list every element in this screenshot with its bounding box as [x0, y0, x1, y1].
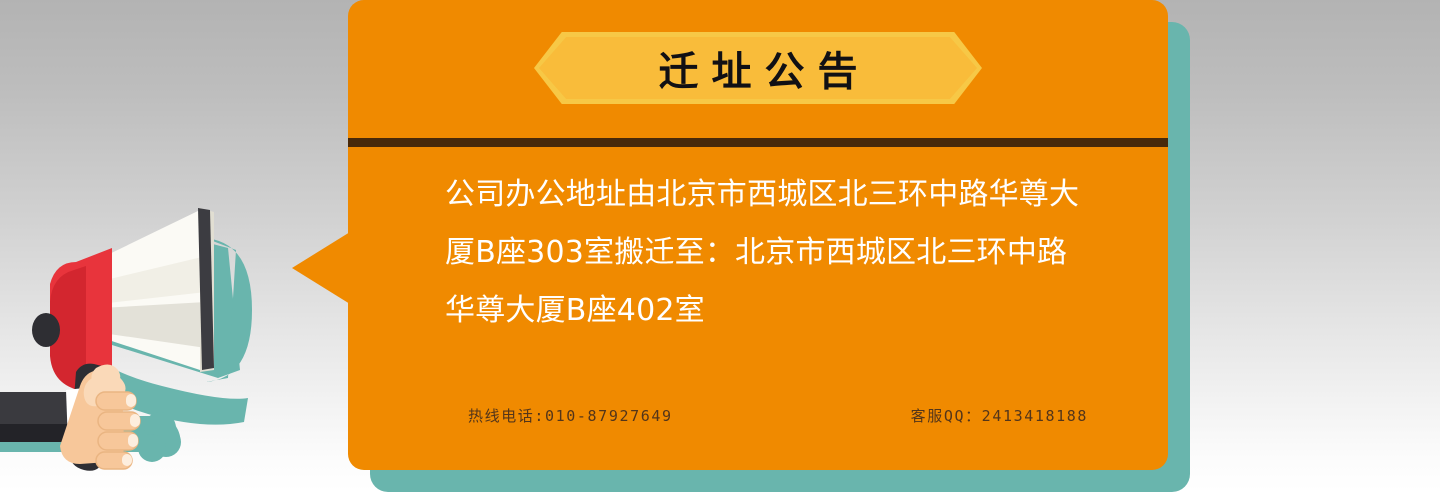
- divider: [348, 138, 1168, 147]
- hotline-text: 热线电话:010-87927649: [468, 405, 673, 426]
- qq-text: 客服QQ：2413418188: [911, 405, 1088, 426]
- megaphone-knob-icon: [32, 313, 60, 347]
- megaphone-illustration: [0, 180, 330, 492]
- announcement-banner-image: 迁址公告 公司办公地址由北京市西城区北三环中路华尊大厦B座303室搬迁至：北京市…: [0, 0, 1440, 492]
- announcement-body: 公司办公地址由北京市西城区北三环中路华尊大厦B座303室搬迁至：北京市西城区北三…: [445, 166, 1095, 340]
- speech-bubble-tail: [292, 232, 350, 304]
- title-banner: 迁址公告: [534, 32, 982, 104]
- page-title: 迁址公告: [534, 32, 982, 104]
- announcement-card: 迁址公告 公司办公地址由北京市西城区北三环中路华尊大厦B座303室搬迁至：北京市…: [348, 0, 1168, 470]
- footer-contact: 热线电话:010-87927649 客服QQ：2413418188: [468, 405, 1088, 426]
